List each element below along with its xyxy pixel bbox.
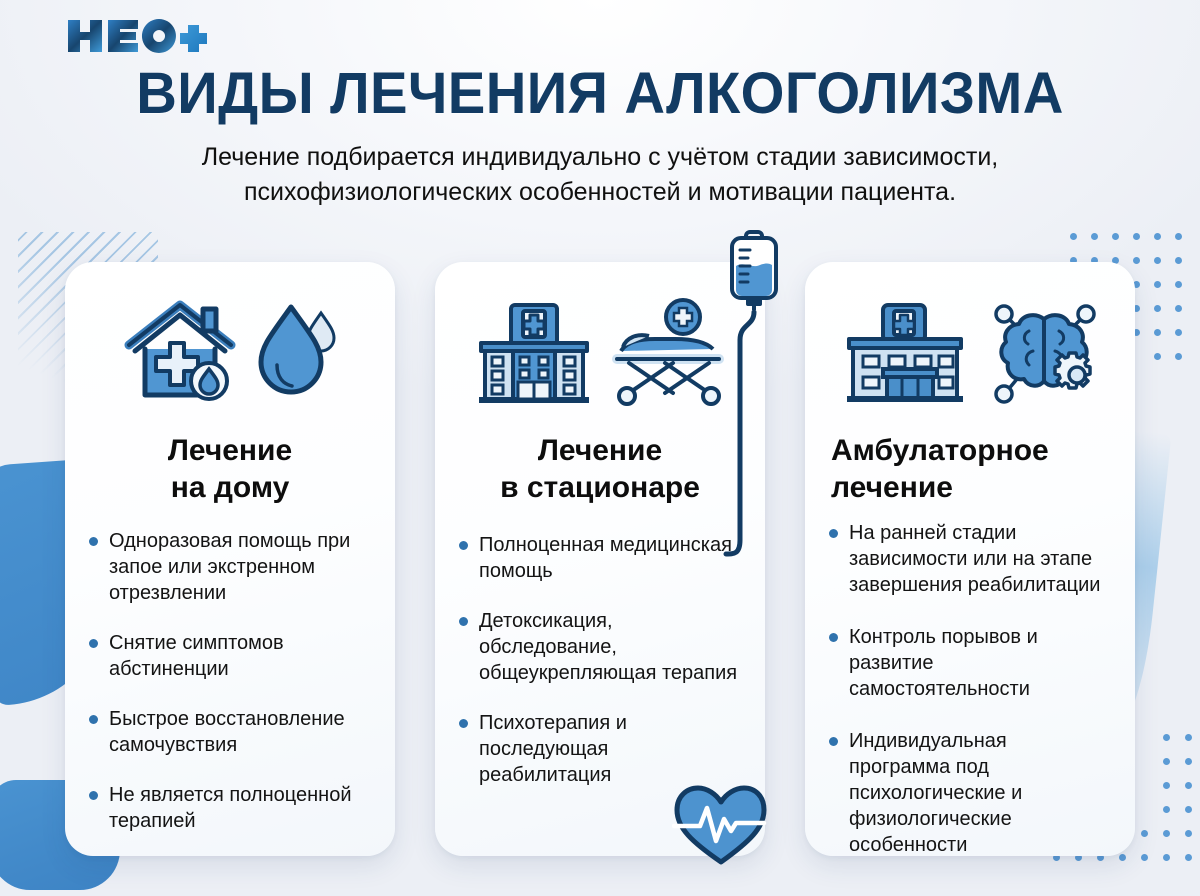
card-title: Амбулаторное лечение xyxy=(827,432,1113,506)
card-icons xyxy=(87,288,373,418)
decor-dot xyxy=(1175,233,1182,240)
list-item: Снятие симптомов абстиненции xyxy=(87,630,373,682)
neo-plus-logo-icon xyxy=(64,14,214,58)
list-item: Детоксикация, обследование, общеукрепляю… xyxy=(457,608,743,686)
decor-dot xyxy=(1112,233,1119,240)
list-item: Одноразовая помощь при запое или экстрен… xyxy=(87,528,373,606)
list-item: Контроль порывов и развитие самостоятель… xyxy=(827,624,1113,702)
card-bullets: Полноценная медицинская помощь Детоксика… xyxy=(457,532,743,788)
infographic-canvas: ВИДЫ ЛЕЧЕНИЯ АЛКОГОЛИЗМА Лечение подбира… xyxy=(0,0,1200,896)
decor-dot xyxy=(1070,233,1077,240)
card-title-line1: Лечение xyxy=(538,434,662,467)
card-title-line2: в стационаре xyxy=(500,471,700,504)
decor-dot xyxy=(1133,233,1140,240)
card-bullets: Одноразовая помощь при запое или экстрен… xyxy=(87,528,373,834)
house-medical-icon xyxy=(121,299,239,407)
water-drop-icon xyxy=(255,299,339,407)
iv-drip-icon xyxy=(718,228,798,558)
list-item: Полноценная медицинская помощь xyxy=(457,532,743,584)
list-item: Психотерапия и последующая реабилитация xyxy=(457,710,743,788)
clinic-building-icon xyxy=(841,299,969,407)
hospital-stretcher-icon xyxy=(611,297,727,409)
card-title-line2: лечение xyxy=(831,471,953,504)
heart-pulse-icon xyxy=(672,784,770,868)
card-bullets: На ранней стадии зависимости или на этап… xyxy=(827,520,1113,858)
page-subtitle: Лечение подбирается индивидуально с учёт… xyxy=(90,140,1110,210)
page-title: ВИДЫ ЛЕЧЕНИЯ АЛКОГОЛИЗМА xyxy=(18,60,1182,127)
card-title-line2: на дому xyxy=(171,471,290,504)
card-title: Лечение на дому xyxy=(87,432,373,506)
card-title: Лечение в стационаре xyxy=(457,432,743,506)
list-item: Быстрое восстановление самочувствия xyxy=(87,706,373,758)
card-home-treatment[interactable]: Лечение на дому Одноразовая помощь при з… xyxy=(65,262,395,856)
brand-logo[interactable] xyxy=(64,14,214,58)
card-icons xyxy=(457,288,743,418)
decor-dot xyxy=(1091,233,1098,240)
list-item: Не является полноценной терапией xyxy=(87,782,373,834)
decor-dot xyxy=(1154,233,1161,240)
card-title-line1: Лечение xyxy=(168,434,292,467)
card-inpatient-treatment[interactable]: Лечение в стационаре Полноценная медицин… xyxy=(435,262,765,856)
list-item: Индивидуальная программа под психологиче… xyxy=(827,728,1113,858)
brain-gear-icon xyxy=(989,299,1099,407)
cards-row: Лечение на дому Одноразовая помощь при з… xyxy=(0,262,1200,856)
list-item: На ранней стадии зависимости или на этап… xyxy=(827,520,1113,598)
card-outpatient-treatment[interactable]: Амбулаторное лечение На ранней стадии за… xyxy=(805,262,1135,856)
hospital-building-icon xyxy=(473,297,595,409)
card-title-line1: Амбулаторное xyxy=(831,434,1049,467)
card-icons xyxy=(827,288,1113,418)
